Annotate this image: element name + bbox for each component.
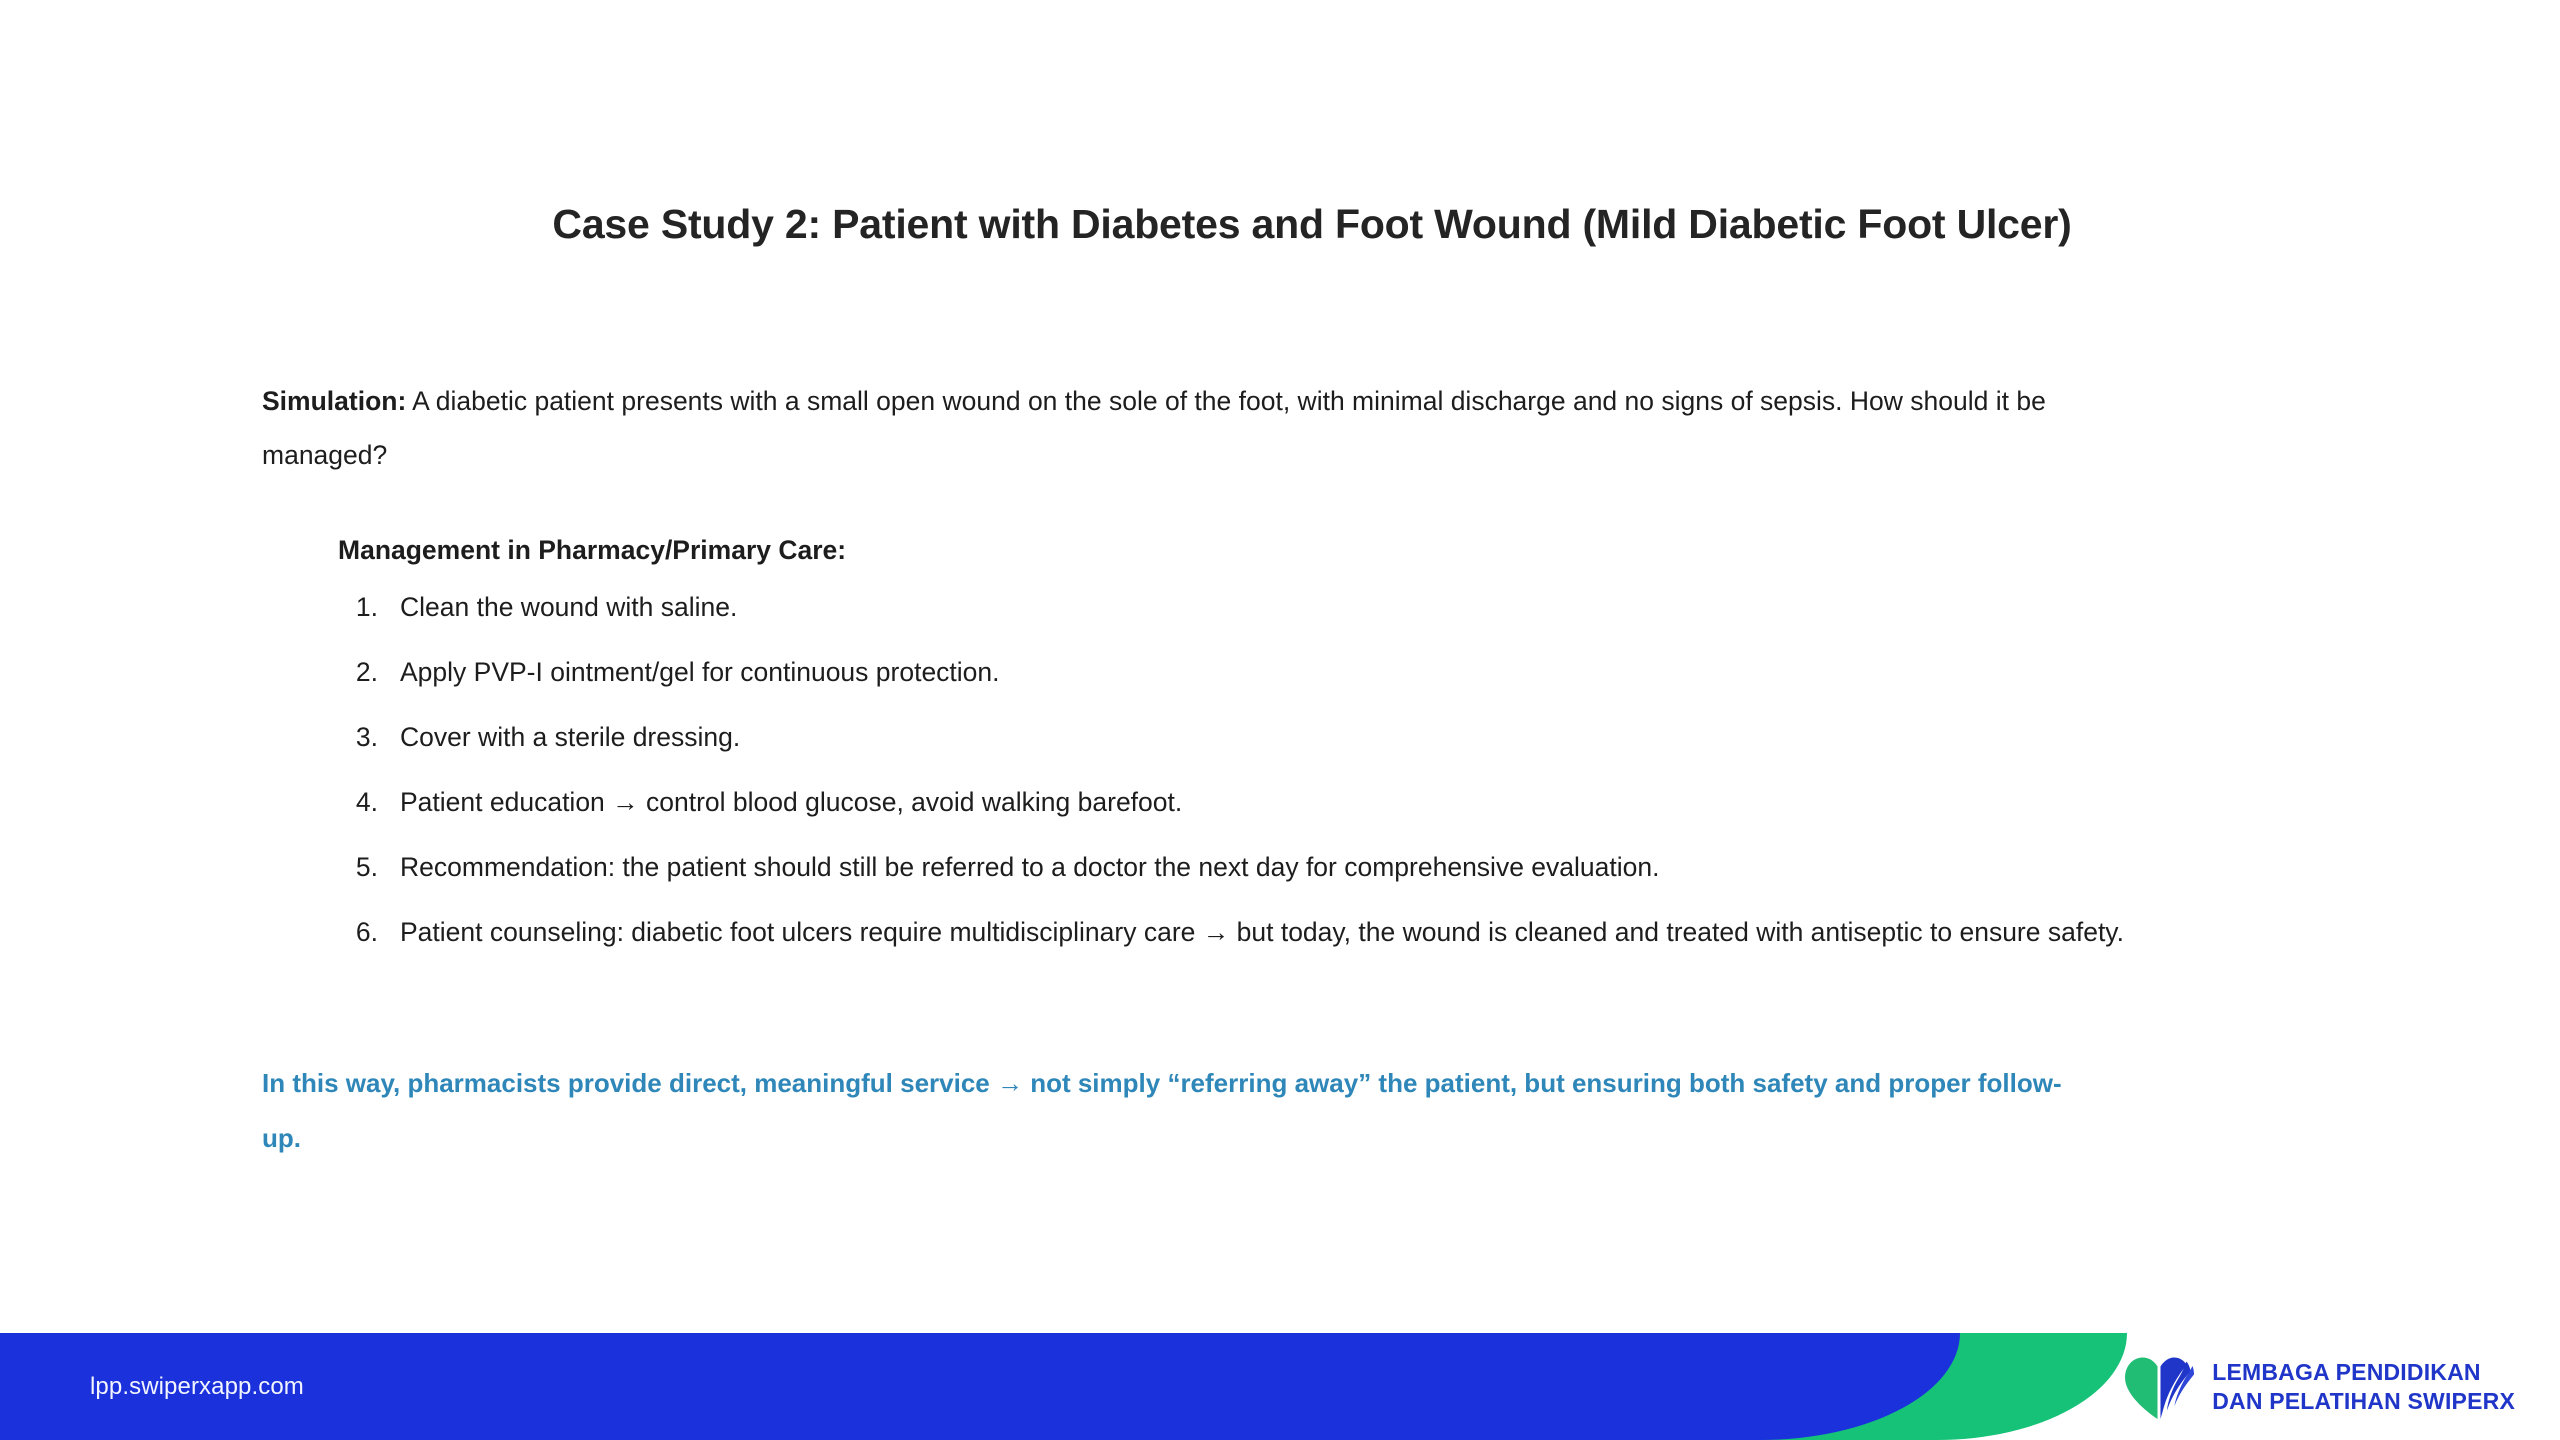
footer-logo-line2: DAN PELATIHAN SWIPERX [2212, 1387, 2515, 1415]
list-item-number: 5. [338, 835, 378, 900]
list-item-number: 3. [338, 705, 378, 770]
list-item-text: Patient counseling: diabetic foot ulcers… [400, 917, 2124, 947]
list-item-text: Recommendation: the patient should still… [400, 852, 1659, 882]
list-item: 6. Patient counseling: diabetic foot ulc… [338, 900, 2428, 965]
swiperx-heart-book-logo-icon [2122, 1353, 2196, 1421]
list-item-number: 6. [338, 900, 378, 965]
simulation-label: Simulation: [262, 386, 406, 416]
list-item-number: 4. [338, 770, 378, 835]
footer-logo: LEMBAGA PENDIDIKAN DAN PELATIHAN SWIPERX [2122, 1333, 2515, 1440]
page-title: Case Study 2: Patient with Diabetes and … [262, 195, 2362, 254]
list-item: 1. Clean the wound with saline. [338, 575, 2428, 640]
simulation-paragraph: Simulation: A diabetic patient presents … [262, 374, 2117, 482]
footer-url-text[interactable]: lpp.swiperxapp.com [90, 1333, 304, 1440]
footer-logo-text: LEMBAGA PENDIDIKAN DAN PELATIHAN SWIPERX [2212, 1358, 2515, 1414]
list-item: 4. Patient education → control blood glu… [338, 770, 2428, 835]
list-item-text: Patient education → control blood glucos… [400, 787, 1182, 817]
list-item: 3. Cover with a sterile dressing. [338, 705, 2428, 770]
list-item: 2. Apply PVP-I ointment/gel for continuo… [338, 640, 2428, 705]
footer-bar: lpp.swiperxapp.com LEMBAGA PENDIDIKAN DA… [0, 1333, 2560, 1440]
list-item-text: Apply PVP-I ointment/gel for continuous … [400, 657, 1000, 687]
management-steps-list: 1. Clean the wound with saline. 2. Apply… [338, 575, 2428, 965]
presentation-slide: Case Study 2: Patient with Diabetes and … [0, 0, 2560, 1440]
management-heading: Management in Pharmacy/Primary Care: [338, 530, 846, 570]
list-item-text: Clean the wound with saline. [400, 592, 737, 622]
conclusion-paragraph: In this way, pharmacists provide direct,… [262, 1056, 2062, 1166]
footer-logo-line1: LEMBAGA PENDIDIKAN [2212, 1358, 2515, 1386]
simulation-text: A diabetic patient presents with a small… [262, 386, 2046, 470]
list-item-number: 1. [338, 575, 378, 640]
list-item-number: 2. [338, 640, 378, 705]
list-item-text: Cover with a sterile dressing. [400, 722, 740, 752]
list-item: 5. Recommendation: the patient should st… [338, 835, 2428, 900]
